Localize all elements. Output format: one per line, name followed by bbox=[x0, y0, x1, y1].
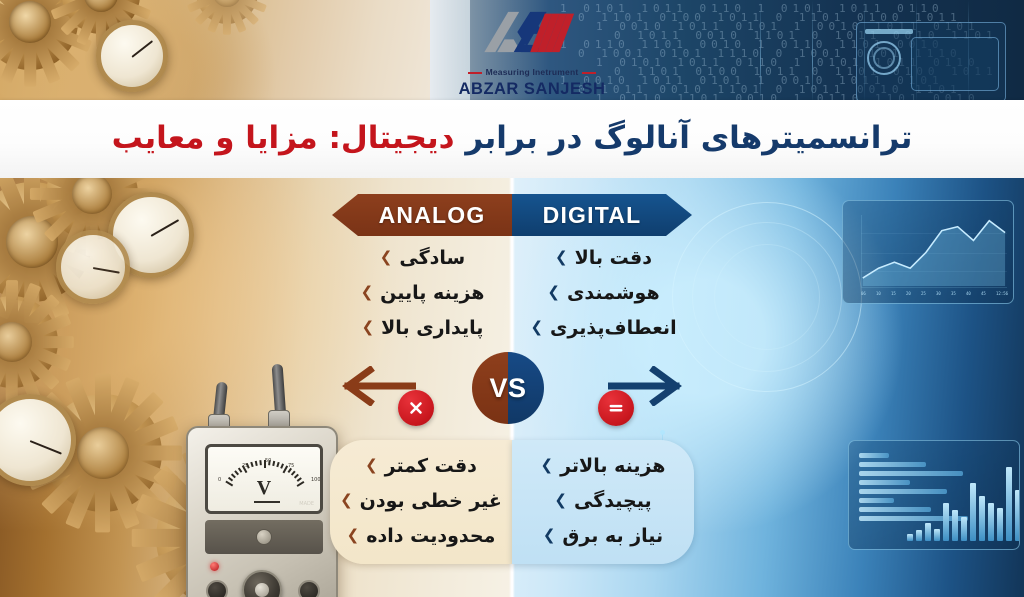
analog-banner-label: ANALOG bbox=[379, 202, 486, 229]
pro-text: هزینه پایین bbox=[380, 282, 484, 304]
list-item: پایداری بالا ❯ bbox=[335, 310, 510, 345]
meter-panel-strip bbox=[205, 520, 323, 554]
list-item: انعطاف‌پذیری ❯ bbox=[516, 310, 691, 345]
chevron-left-icon: ❯ bbox=[340, 493, 353, 508]
chevron-left-icon: ❯ bbox=[543, 528, 556, 543]
con-text: پیچیدگی bbox=[574, 490, 652, 512]
con-text: نیاز به برق bbox=[562, 525, 663, 547]
analog-cons-card: دقت کمتر ❯ غیر خطی بودن ❯ محدودیت داده ❯ bbox=[330, 440, 512, 564]
pro-text: هوشمندی bbox=[567, 282, 660, 304]
chevron-left-icon: ❯ bbox=[347, 528, 360, 543]
asa-monogram-icon bbox=[477, 4, 587, 60]
meter-brand-text: MADE bbox=[299, 501, 314, 507]
page-title: ترانسمیترهای آنالوگ در برابر دیجیتال: مز… bbox=[112, 120, 913, 157]
analog-voltmeter: 0255075100 V MADE bbox=[186, 426, 338, 597]
meter-knob-left[interactable] bbox=[206, 580, 228, 597]
con-text: غیر خطی بودن bbox=[360, 490, 502, 512]
pro-text: انعطاف‌پذیری bbox=[550, 317, 677, 339]
con-text: هزینه بالاتر bbox=[560, 455, 665, 477]
pro-text: دقت بالا bbox=[575, 247, 652, 269]
pro-text: سادگی bbox=[399, 247, 465, 269]
bar-chart-panel bbox=[848, 440, 1020, 550]
pro-text: پایداری بالا bbox=[381, 317, 483, 339]
company-logo[interactable]: Measuring Inetrument ABZAR SANJESH ARIA bbox=[452, 4, 612, 102]
infographic-canvas: 0110 1011 0101 1 0110 1011 0101 11011 01… bbox=[0, 0, 1024, 597]
chevron-left-icon: ❯ bbox=[530, 320, 543, 335]
gear-decor bbox=[196, 0, 258, 24]
list-item: هزینه بالاتر ❯ bbox=[512, 448, 694, 483]
con-text: دقت کمتر bbox=[385, 455, 477, 477]
dashboard-panel-decor bbox=[856, 22, 1006, 102]
chevron-left-icon: ❯ bbox=[361, 285, 374, 300]
middle-row: VS bbox=[0, 356, 1024, 416]
list-item: سادگی ❯ bbox=[335, 240, 510, 275]
list-item: دقت بالا ❯ bbox=[516, 240, 691, 275]
meter-unit-symbol: V bbox=[208, 477, 320, 500]
meter-screw bbox=[256, 529, 272, 545]
analog-banner: ANALOG bbox=[332, 194, 512, 236]
versus-label: VS bbox=[489, 373, 526, 404]
logo-tagline: Measuring Inetrument bbox=[468, 67, 597, 77]
digital-banner-label: DIGITAL bbox=[543, 202, 642, 229]
cross-icon bbox=[398, 390, 434, 426]
meter-unit-underline bbox=[254, 501, 280, 503]
pressure-dial-decor bbox=[56, 230, 130, 304]
list-item: پیچیدگی ❯ bbox=[512, 483, 694, 518]
digital-banner: DIGITAL bbox=[512, 194, 692, 236]
chevron-left-icon: ❯ bbox=[362, 320, 375, 335]
title-bar: ترانسمیترهای آنالوگ در برابر دیجیتال: مز… bbox=[0, 100, 1024, 178]
meter-main-knob[interactable] bbox=[242, 570, 282, 597]
line-chart-panel: 06101520253035404512:56 bbox=[842, 200, 1014, 304]
analog-pros-list: سادگی ❯ هزینه پایین ❯ پایداری بالا ❯ bbox=[335, 240, 510, 345]
chevron-left-icon: ❯ bbox=[365, 458, 378, 473]
meter-body: 0255075100 V MADE bbox=[186, 426, 338, 597]
chevron-left-icon: ❯ bbox=[541, 458, 554, 473]
chevron-left-icon: ❯ bbox=[555, 250, 568, 265]
list-item: دقت کمتر ❯ bbox=[330, 448, 512, 483]
con-text: محدودیت داده bbox=[366, 525, 495, 547]
pressure-dial-decor bbox=[96, 20, 168, 92]
list-item: هزینه پایین ❯ bbox=[335, 275, 510, 310]
list-item: محدودیت داده ❯ bbox=[330, 518, 512, 553]
title-blue-part: ترانسمیترهای آنالوگ در برابر bbox=[465, 120, 912, 156]
digital-pros-list: دقت بالا ❯ هوشمندی ❯ انعطاف‌پذیری ❯ bbox=[516, 240, 691, 345]
digital-cons-card: هزینه بالاتر ❯ پیچیدگی ❯ نیاز به برق ❯ bbox=[512, 440, 694, 564]
equals-icon bbox=[598, 390, 634, 426]
list-item: غیر خطی بودن ❯ bbox=[330, 483, 512, 518]
meter-scale-display: 0255075100 V MADE bbox=[205, 444, 323, 514]
meter-power-led bbox=[210, 562, 219, 571]
list-item: نیاز به برق ❯ bbox=[512, 518, 694, 553]
versus-badge: VS bbox=[472, 352, 544, 424]
title-red-part: دیجیتال: مزایا و معایب bbox=[112, 120, 455, 156]
chevron-left-icon: ❯ bbox=[547, 285, 560, 300]
comparison-area: 06101520253035404512:56 DIGITAL bbox=[0, 178, 1024, 597]
chevron-left-icon: ❯ bbox=[380, 250, 393, 265]
meter-knob-right[interactable] bbox=[298, 580, 320, 597]
list-item: هوشمندی ❯ bbox=[516, 275, 691, 310]
chevron-left-icon: ❯ bbox=[554, 493, 567, 508]
